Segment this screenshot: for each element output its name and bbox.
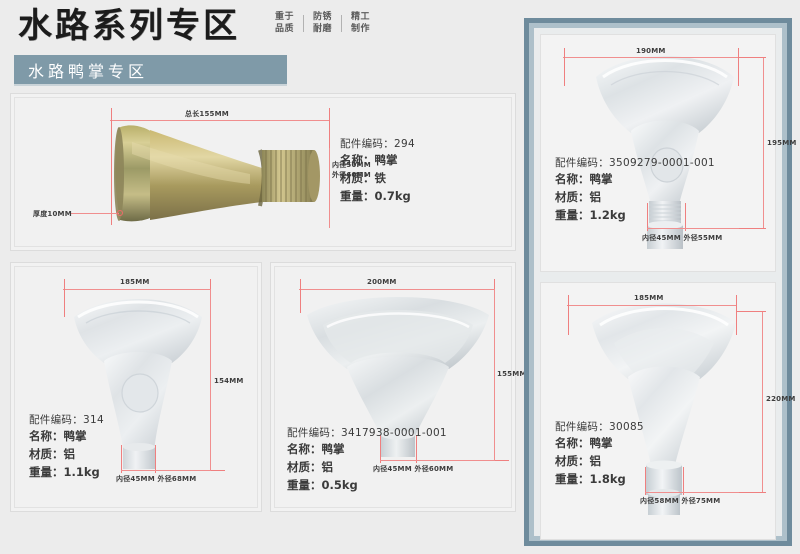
dim-tick-right-3509279: [738, 48, 739, 86]
product-card-294[interactable]: 总长155MM 内径50MM 外径60MM 厚度10MM 配件编码：294 名称…: [10, 93, 516, 251]
dim-label-height-314: 154MM: [214, 377, 244, 385]
featured-panel-surface: 190MM 195MM 内径45MM 外径55MM 配件编码：3509279-0…: [534, 28, 782, 536]
tagline-3-line2: 制作: [351, 23, 370, 35]
spec-name-314: 名称：鸭掌: [29, 428, 104, 446]
dim-label-height-3509279: 195MM: [767, 139, 797, 147]
section-banner-label: 水路鸭掌专区: [14, 58, 148, 82]
dim-tick-mouth-294: [111, 120, 112, 225]
dim-label-width-3417938: 200MM: [367, 278, 397, 286]
dim-leader-thickness-294: [71, 213, 119, 214]
dim-line-height-30085: [762, 311, 763, 493]
spec-material-3509279: 材质：铝: [555, 189, 715, 207]
tagline-1-line1: 重于: [275, 11, 294, 23]
spec-weight-30085: 重量：1.8kg: [555, 471, 644, 489]
product-card-314[interactable]: 185MM 154MM 内径45MM 外径68MM 配件编码：314 名称：鸭掌…: [10, 262, 262, 512]
dim-tick-left-3509279: [564, 48, 565, 86]
spec-weight-294: 重量：0.7kg: [340, 188, 415, 206]
tagline-1: 重于 品质: [275, 11, 294, 35]
page-title: 水路系列专区: [18, 6, 240, 46]
spec-code-30085: 配件编码：30085: [555, 419, 644, 435]
featured-panel-content: 190MM 195MM 内径45MM 外径55MM 配件编码：3509279-0…: [540, 34, 776, 530]
product-card-3417938-inner: 200MM 155MM 内径45MM 外径60MM 配件编码：3417938-0…: [274, 266, 512, 508]
product-card-294-inner: 总长155MM 内径50MM 外径60MM 厚度10MM 配件编码：294 名称…: [14, 97, 512, 247]
tagline-2-line2: 耐磨: [313, 23, 332, 35]
dim-tick-dia-left-30085: [645, 467, 646, 495]
dim-line-width-3417938: [299, 289, 495, 290]
product-specs-3509279: 配件编码：3509279-0001-001 名称：鸭掌 材质：铝 重量：1.2k…: [555, 155, 715, 225]
dim-tick-top-3509279: [738, 57, 766, 58]
dim-tick-right-30085: [736, 295, 737, 335]
dim-tick-dia-right-314: [155, 445, 156, 473]
product-card-3417938[interactable]: 200MM 155MM 内径45MM 外径60MM 配件编码：3417938-0…: [270, 262, 516, 512]
product-card-314-inner: 185MM 154MM 内径45MM 外径68MM 配件编码：314 名称：鸭掌…: [14, 266, 258, 508]
spec-material-3417938: 材质：铝: [287, 459, 447, 477]
tagline-3-line1: 精工: [351, 11, 370, 23]
spec-name-30085: 名称：鸭掌: [555, 435, 644, 453]
dim-line-height-314: [210, 289, 211, 471]
tagline-3: 精工 制作: [351, 11, 370, 35]
product-specs-314: 配件编码：314 名称：鸭掌 材质：铝 重量：1.1kg: [29, 412, 104, 482]
spec-code-3417938: 配件编码：3417938-0001-001: [287, 425, 447, 441]
dim-tick-bottom-30085: [736, 492, 766, 493]
dim-tick-left-30085: [568, 295, 569, 335]
spec-weight-3509279: 重量：1.2kg: [555, 207, 715, 225]
tagline-separator-2: [341, 15, 342, 32]
dim-label-thickness-294: 厚度10MM: [33, 209, 72, 219]
dim-tick-dia-left-314: [121, 445, 122, 473]
spec-name-3509279: 名称：鸭掌: [555, 171, 715, 189]
tagline-separator-1: [303, 15, 304, 32]
dim-tick-left-3417938: [300, 279, 301, 313]
dim-label-height-3417938: 155MM: [497, 370, 527, 378]
dim-label-width-3509279: 190MM: [636, 47, 666, 55]
dim-line-length-294: [110, 120, 330, 121]
section-banner: 水路鸭掌专区: [14, 55, 287, 86]
spec-material-294: 材质：铁: [340, 170, 415, 188]
product-specs-30085: 配件编码：30085 名称：鸭掌 材质：铝 重量：1.8kg: [555, 419, 644, 489]
product-card-30085[interactable]: 185MM 220MM 内径58MM 外径75MM 配件编码：30085 名称：…: [540, 282, 776, 540]
dim-tick-left-314: [64, 279, 65, 317]
dim-tick-bottom-3509279: [738, 228, 766, 229]
spec-code-294: 配件编码：294: [340, 136, 415, 152]
dim-line-diameter-294: [329, 148, 330, 228]
dim-point-thickness-294: [117, 210, 123, 216]
spec-code-3509279: 配件编码：3509279-0001-001: [555, 155, 715, 171]
dim-label-width-314: 185MM: [120, 278, 150, 286]
spec-code-314: 配件编码：314: [29, 412, 104, 428]
product-catalog-page: 水路系列专区 重于 品质 防锈 耐磨 精工 制作 水路鸭掌专区: [0, 0, 800, 554]
dim-label-length-294: 总长155MM: [185, 109, 229, 119]
spec-material-314: 材质：铝: [29, 446, 104, 464]
dim-line-height-3417938: [494, 289, 495, 461]
product-specs-294: 配件编码：294 名称：鸭掌 材质：铁 重量：0.7kg: [340, 136, 415, 206]
product-card-3509279[interactable]: 190MM 195MM 内径45MM 外径55MM 配件编码：3509279-0…: [540, 34, 776, 272]
spec-material-30085: 材质：铝: [555, 453, 644, 471]
dim-label-diameter-30085: 内径58MM 外径75MM: [640, 496, 720, 506]
dim-line-width-30085: [567, 305, 737, 306]
spec-name-294: 名称：鸭掌: [340, 152, 415, 170]
spec-weight-314: 重量：1.1kg: [29, 464, 104, 482]
dim-tick-dia-right-30085: [683, 467, 684, 495]
dim-line-dia-30085: [645, 492, 739, 493]
dim-tick-top-30085: [736, 311, 766, 312]
product-image-294: [110, 110, 325, 228]
dim-line-dia-3509279: [647, 228, 739, 229]
spec-weight-3417938: 重量：0.5kg: [287, 477, 447, 495]
tagline-group: 重于 品质 防锈 耐磨 精工 制作: [275, 11, 370, 35]
dim-line-width-314: [63, 289, 211, 290]
tagline-1-line2: 品质: [275, 23, 294, 35]
tagline-2-line1: 防锈: [313, 11, 332, 23]
tagline-2: 防锈 耐磨: [313, 11, 332, 35]
dim-label-diameter-314: 内径45MM 外径68MM: [116, 474, 196, 484]
dim-label-diameter-3509279: 内径45MM 外径55MM: [642, 233, 722, 243]
featured-panel: 190MM 195MM 内径45MM 外径55MM 配件编码：3509279-0…: [524, 18, 792, 546]
dim-label-height-30085: 220MM: [766, 395, 796, 403]
featured-panel-border-inner: 190MM 195MM 内径45MM 外径55MM 配件编码：3509279-0…: [529, 23, 787, 541]
dim-line-width-3509279: [563, 57, 739, 58]
dim-line-dia-314: [121, 470, 211, 471]
dim-line-height-3509279: [763, 57, 764, 229]
product-specs-3417938: 配件编码：3417938-0001-001 名称：鸭掌 材质：铝 重量：0.5k…: [287, 425, 447, 495]
dim-label-width-30085: 185MM: [634, 294, 664, 302]
spec-name-3417938: 名称：鸭掌: [287, 441, 447, 459]
